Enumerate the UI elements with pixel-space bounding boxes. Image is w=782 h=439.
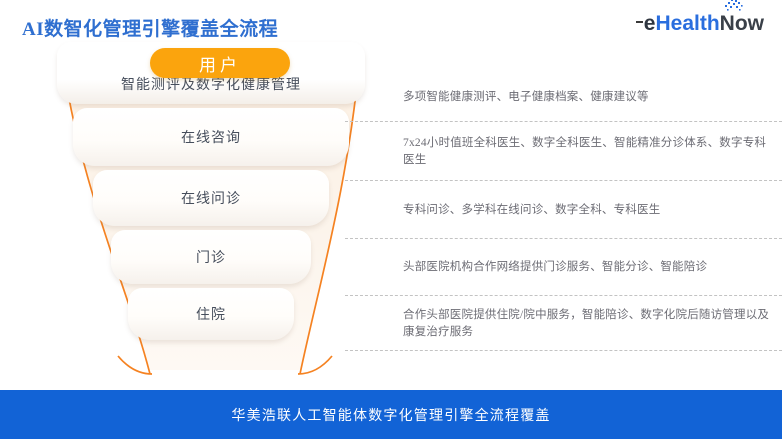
slide-root: AI数智化管理引擎覆盖全流程 e Health Now (0, 0, 782, 439)
description-row: 头部医院机构合作网络提供门诊服务、智能分诊、智能陪诊 (345, 239, 782, 296)
description-text: 专科问诊、多学科在线问诊、数字全科、专科医生 (403, 202, 660, 219)
logo-dash-icon (636, 21, 643, 23)
funnel-stage-3-label: 在线问诊 (181, 188, 241, 208)
funnel-stage-4-label: 门诊 (196, 247, 226, 267)
logo-health-text: Health (655, 13, 719, 34)
brand-logo: e Health Now (636, 10, 764, 36)
footer-banner: 华美浩联人工智能体数字化管理引擎全流程覆盖 (0, 390, 782, 439)
user-pill-badge[interactable]: 用户 (150, 48, 290, 78)
funnel-stage-2[interactable]: 在线咨询 (73, 108, 349, 166)
logo-e-letter: e (644, 13, 656, 34)
page-title: AI数智化管理引擎覆盖全流程 (22, 14, 278, 41)
row-divider (345, 350, 782, 351)
funnel-stage-5-label: 住院 (196, 304, 226, 324)
user-pill-label: 用户 (199, 51, 241, 76)
description-text: 头部医院机构合作网络提供门诊服务、智能分诊、智能陪诊 (403, 259, 707, 276)
description-row: 合作头部医院提供住院/院中服务，智能陪诊、数字化院后随访管理以及康复治疗服务 (345, 296, 782, 351)
funnel-stage-5[interactable]: 住院 (128, 288, 294, 340)
description-row: 7x24小时值班全科医生、数字全科医生、智能精准分诊体系、数字专科医生 (345, 122, 782, 181)
description-text: 7x24小时值班全科医生、数字全科医生、智能精准分诊体系、数字专科医生 (403, 135, 774, 169)
logo-now-text: Now (720, 13, 764, 34)
logo-sparkle-icon (720, 0, 746, 13)
funnel-stage-3[interactable]: 在线问诊 (93, 170, 329, 226)
description-row: 多项智能健康测评、电子健康档案、健康建议等 (345, 72, 782, 122)
description-column: 多项智能健康测评、电子健康档案、健康建议等 7x24小时值班全科医生、数字全科医… (345, 72, 782, 351)
description-text: 合作头部医院提供住院/院中服务，智能陪诊、数字化院后随访管理以及康复治疗服务 (403, 307, 774, 341)
description-row: 专科问诊、多学科在线问诊、数字全科、专科医生 (345, 181, 782, 239)
description-text: 多项智能健康测评、电子健康档案、健康建议等 (403, 89, 649, 106)
funnel-stage-4[interactable]: 门诊 (111, 230, 311, 284)
footer-text: 华美浩联人工智能体数字化管理引擎全流程覆盖 (231, 405, 550, 425)
funnel-stage-2-label: 在线咨询 (181, 127, 241, 147)
